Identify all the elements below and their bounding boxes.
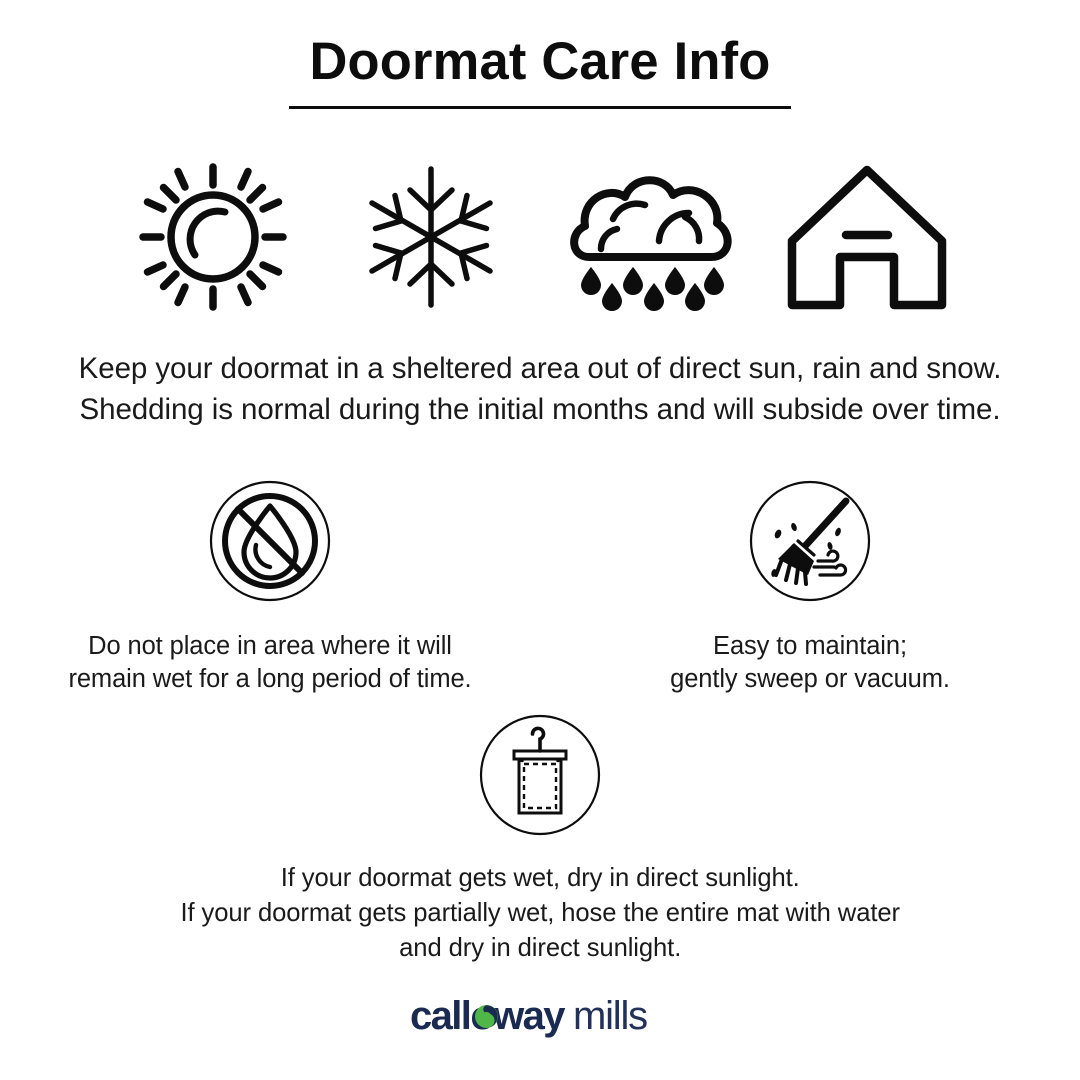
house-icon [782,157,952,317]
care-caption-sweep: Easy to maintain; gently sweep or vacuum… [670,630,950,696]
care-info-page: Doormat Care Info [0,0,1080,1080]
dry-caption-line-3: and dry in direct sunlight. [180,930,899,965]
hanging-mat-icon [478,713,602,837]
care-caption-no-water: Do not place in area where it will remai… [68,630,471,696]
care-icon-wrap-broom [748,470,872,612]
broom-icon [748,479,872,603]
care-item-no-water: Do not place in area where it will remai… [0,470,540,696]
dry-caption-line-1: If your doormat gets wet, dry in direct … [180,860,899,895]
dry-instructions-block: If your doormat gets wet, dry in direct … [0,706,1080,965]
weather-cell-snowflake [336,152,526,322]
weather-cell-sun [118,152,308,322]
care-caption-line-1: Easy to maintain; [670,630,950,663]
no-water-icon [208,479,332,603]
page-title: Doormat Care Info [5,34,1074,90]
care-caption-line-2: remain wet for a long period of time. [68,663,471,696]
dry-icon-wrap [478,706,602,844]
calloway-mills-logo: calloway mills [410,994,670,1040]
logo-green-swoosh [475,1005,498,1028]
title-underline-rule [289,106,791,109]
weather-icon-row [0,152,1080,322]
dry-caption: If your doormat gets wet, dry in direct … [180,860,899,965]
rain-cloud-icon [559,157,739,317]
sun-icon [133,157,293,317]
care-icon-wrap-no-water [208,470,332,612]
intro-line-2: Shedding is normal during the initial mo… [8,389,1072,430]
care-caption-line-2: gently sweep or vacuum. [670,663,950,696]
brand-logo: calloway mills [0,994,1080,1040]
logo-word-mills: mills [573,994,647,1038]
page-title-block: Doormat Care Info [0,34,1080,109]
snowflake-icon [351,157,511,317]
care-caption-line-1: Do not place in area where it will [68,630,471,663]
intro-paragraph: Keep your doormat in a sheltered area ou… [8,348,1072,430]
weather-cell-house [772,152,962,322]
weather-cell-rain-cloud [554,152,744,322]
dry-caption-line-2: If your doormat gets partially wet, hose… [180,895,899,930]
care-item-sweep: Easy to maintain; gently sweep or vacuum… [540,470,1080,696]
intro-line-1: Keep your doormat in a sheltered area ou… [8,348,1072,389]
raindrops [581,267,724,311]
care-items-row: Do not place in area where it will remai… [0,470,1080,696]
